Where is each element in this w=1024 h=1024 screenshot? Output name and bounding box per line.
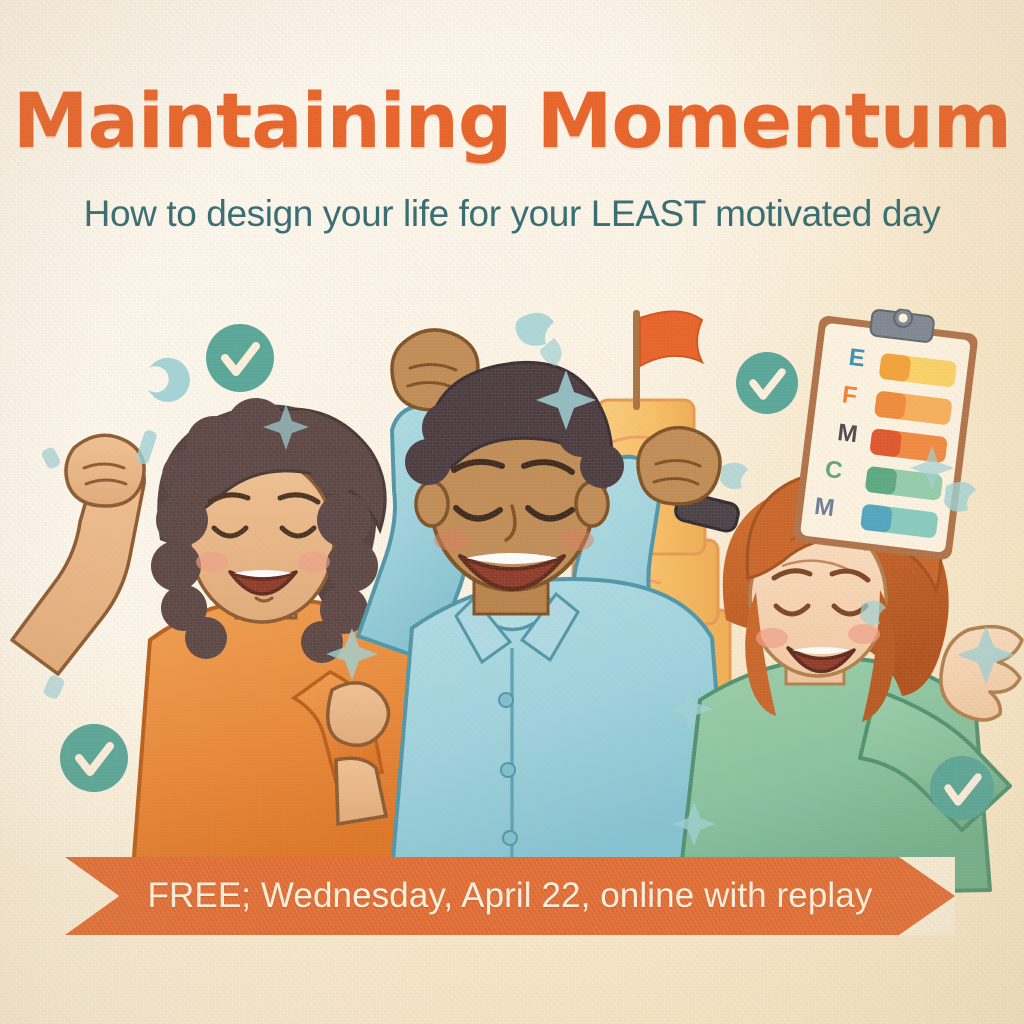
event-details-ribbon: FREE; Wednesday, April 22, online with r…	[65, 857, 955, 935]
poster-canvas: EFMCM	[0, 0, 1024, 1024]
sparkle-stars	[263, 370, 1015, 846]
check-badge-4	[930, 756, 994, 820]
page-title: Maintaining Momentum	[0, 76, 1024, 165]
check-badge-3	[60, 724, 128, 792]
check-badge-2	[736, 352, 798, 414]
check-badge-1	[206, 324, 274, 392]
ribbon-label: FREE; Wednesday, April 22, online with r…	[65, 857, 955, 935]
page-subtitle: How to design your life for your LEAST m…	[0, 193, 1024, 235]
